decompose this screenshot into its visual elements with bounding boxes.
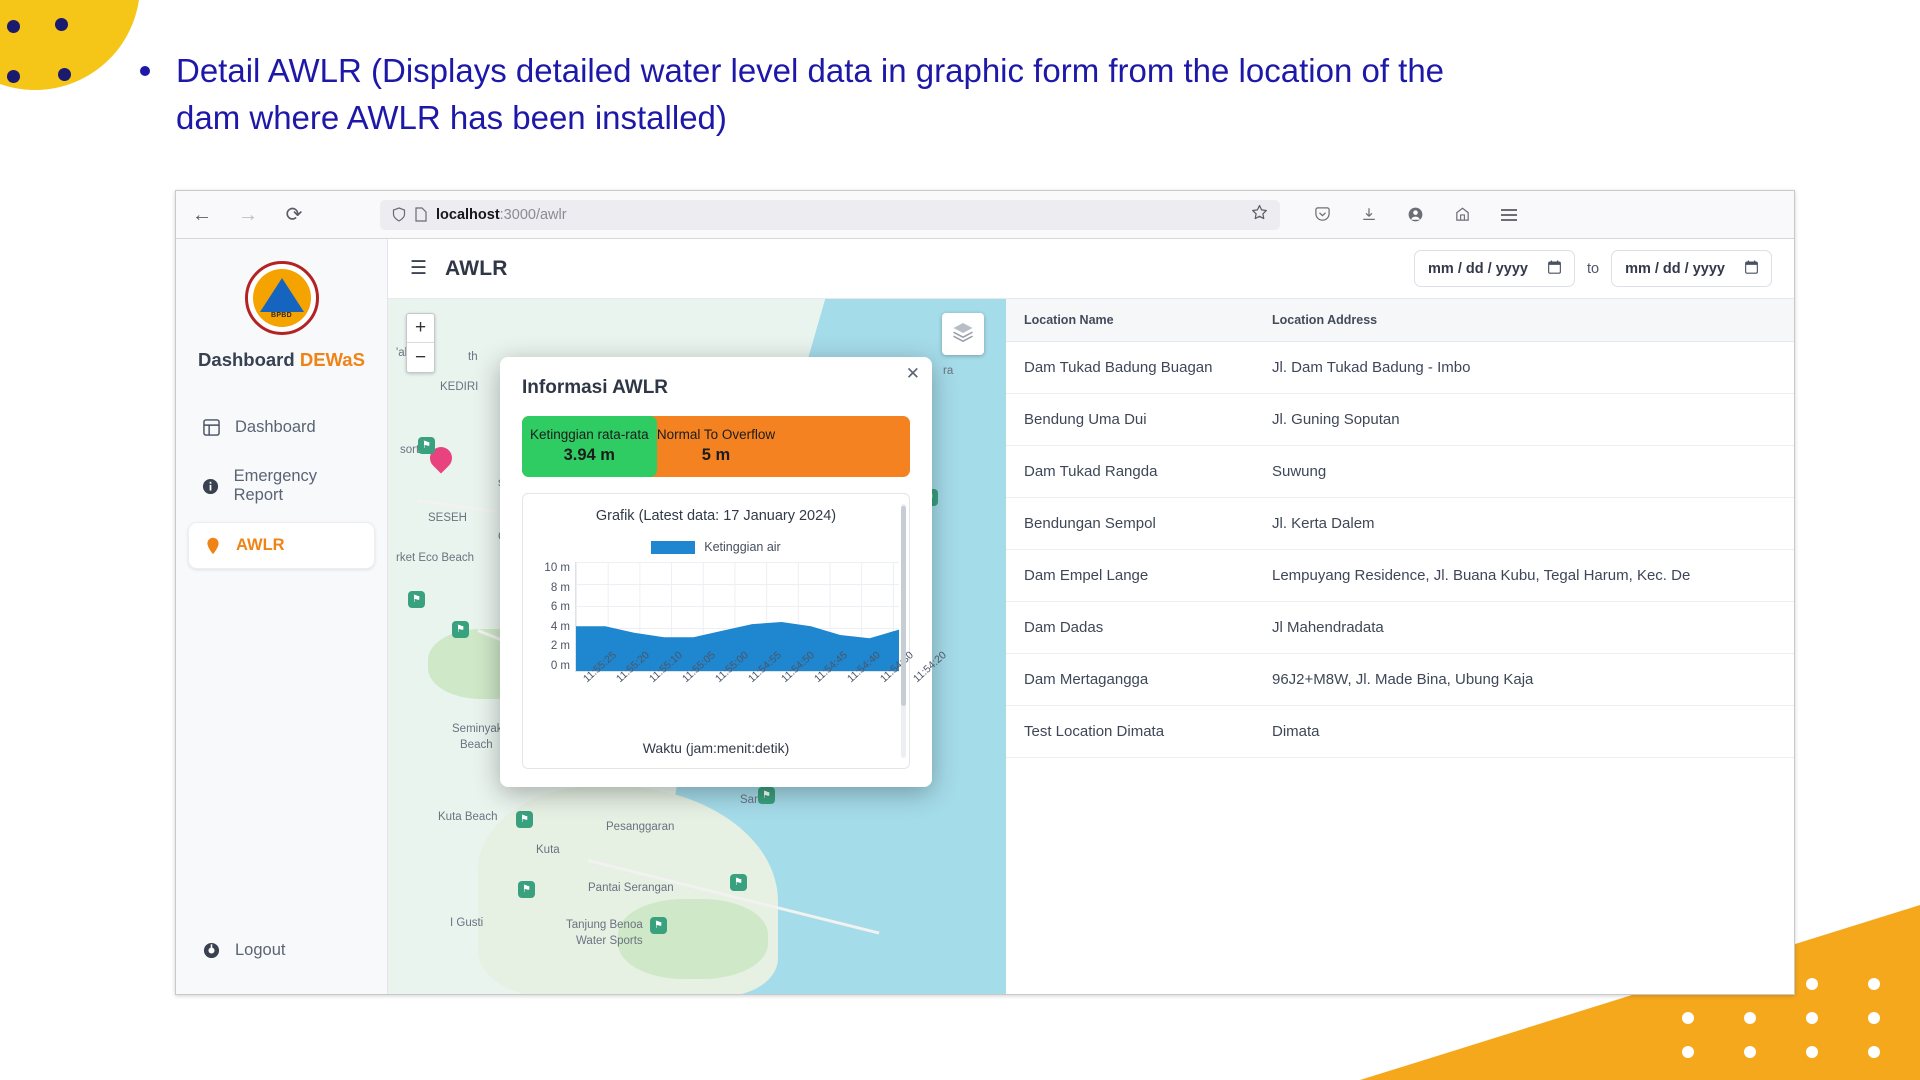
table-cell: Jl Mahendradata	[1254, 602, 1794, 654]
awlr-info-popup: ✕ Informasi AWLR Ketinggian rata-rata 3.…	[500, 357, 932, 787]
table-row[interactable]: Dam Tukad Badung BuaganJl. Dam Tukad Bad…	[1006, 342, 1794, 394]
map-canvas[interactable]: + − ⚑ ⚑ ⚑ ⚑ ⚑ ⚑ ⚑	[388, 299, 1006, 995]
table-cell: Jl. Dam Tukad Badung - Imbo	[1254, 342, 1794, 394]
table-cell: Dimata	[1254, 706, 1794, 758]
table-cell: Bendungan Sempol	[1006, 498, 1254, 550]
shield-icon	[392, 207, 406, 222]
legend-label: Ketinggian air	[704, 540, 780, 554]
locations-table: Location NameLocation Address Dam Tukad …	[1006, 299, 1794, 758]
date-to-value: mm / dd / yyyy	[1625, 261, 1725, 277]
locations-table-pane: Location NameLocation Address Dam Tukad …	[1006, 299, 1794, 995]
map-poi[interactable]: ⚑	[518, 881, 535, 898]
table-row[interactable]: Dam Mertagangga96J2+M8W, Jl. Made Bina, …	[1006, 654, 1794, 706]
map-pin-icon	[203, 537, 222, 555]
chart-y-tick: 2 m	[551, 640, 570, 652]
chart-y-tick: 8 m	[551, 582, 570, 594]
menu-icon[interactable]	[1501, 208, 1517, 222]
page-icon	[415, 207, 427, 222]
url-path: :3000/awlr	[500, 207, 567, 223]
sidebar-item-awlr[interactable]: AWLR	[188, 522, 375, 569]
map-zoom-controls: + −	[406, 313, 435, 373]
map-poi[interactable]: ⚑	[408, 591, 425, 608]
sidebar-nav: Dashboard Emergency Report AWLR	[176, 405, 387, 573]
table-cell: Lempuyang Residence, Jl. Buana Kubu, Teg…	[1254, 550, 1794, 602]
content-area: + − ⚑ ⚑ ⚑ ⚑ ⚑ ⚑ ⚑	[388, 299, 1794, 995]
sidebar: BPBD Dashboard DEWaS Dashboard	[176, 239, 388, 995]
table-row[interactable]: Dam DadasJl Mahendradata	[1006, 602, 1794, 654]
brand-block: BPBD Dashboard DEWaS	[176, 239, 387, 371]
url-bar[interactable]: localhost:3000/awlr	[380, 200, 1280, 230]
url-host: localhost	[436, 207, 500, 223]
table-row[interactable]: Test Location DimataDimata	[1006, 706, 1794, 758]
date-range-separator: to	[1587, 261, 1599, 277]
map-label: Kuta Beach	[438, 811, 497, 823]
stat-label: Ketinggian rata-rata	[530, 427, 649, 442]
sidebar-item-emergency-report[interactable]: Emergency Report	[188, 454, 375, 518]
brand-title-primary: Dashboard	[198, 349, 295, 370]
chart-x-axis: 11:55:2511:55:2011:55:1011:55:0511:55:00…	[575, 672, 899, 734]
table-row[interactable]: Dam Empel LangeLempuyang Residence, Jl. …	[1006, 550, 1794, 602]
app-window: BPBD Dashboard DEWaS Dashboard	[176, 239, 1794, 995]
logout-label: Logout	[235, 941, 285, 960]
arrow-left-icon[interactable]: ←	[190, 203, 214, 227]
sidebar-item-label: Emergency Report	[234, 467, 361, 505]
url-text: localhost:3000/awlr	[436, 207, 567, 223]
browser-actions	[1314, 206, 1523, 223]
main-area: ☰ AWLR mm / dd / yyyy to mm / dd / yyyy	[388, 239, 1794, 995]
map-layers-button[interactable]	[942, 313, 984, 355]
map-label: Pantai Serangan	[588, 882, 674, 894]
table-cell: Jl. Guning Soputan	[1254, 394, 1794, 446]
map-label: Tanjung Benoa	[566, 919, 643, 931]
chart-title: Grafik (Latest data: 17 January 2024)	[533, 508, 899, 524]
map-label: sort	[400, 444, 419, 456]
sidebar-item-label: AWLR	[236, 536, 285, 555]
brand-title-accent: DEWaS	[300, 349, 365, 370]
map-poi[interactable]: ⚑	[418, 437, 435, 454]
map-label: rket Eco Beach	[396, 552, 474, 564]
download-icon[interactable]	[1361, 206, 1377, 223]
map-poi[interactable]: ⚑	[650, 917, 667, 934]
table-cell: Dam Tukad Badung Buagan	[1006, 342, 1254, 394]
map-label: KEDIRI	[440, 381, 478, 393]
map-label: Beach	[460, 739, 493, 751]
date-to-input[interactable]: mm / dd / yyyy	[1611, 250, 1772, 287]
map-label: Pesanggaran	[606, 821, 674, 833]
table-cell: Bendung Uma Dui	[1006, 394, 1254, 446]
table-cell: Dam Dadas	[1006, 602, 1254, 654]
date-range-picker: mm / dd / yyyy to mm / dd / yyyy	[1414, 250, 1772, 287]
map-label: Seminyak	[452, 723, 503, 735]
calendar-icon[interactable]	[1548, 260, 1561, 277]
brand-title: Dashboard DEWaS	[176, 349, 387, 371]
logout-button[interactable]: Logout	[188, 929, 375, 972]
stat-cards: Ketinggian rata-rata 3.94 m Normal To Ov…	[522, 416, 910, 477]
chart-y-tick: 4 m	[551, 621, 570, 633]
chart-y-tick: 0 m	[551, 660, 570, 672]
map-poi[interactable]: ⚑	[452, 621, 469, 638]
sidebar-item-label: Dashboard	[235, 418, 316, 437]
account-icon[interactable]	[1407, 206, 1424, 223]
map-poi[interactable]: ⚑	[730, 874, 747, 891]
date-from-input[interactable]: mm / dd / yyyy	[1414, 250, 1575, 287]
legend-swatch	[651, 541, 695, 554]
pocket-icon[interactable]	[1314, 206, 1331, 223]
arrow-right-icon[interactable]: →	[236, 203, 260, 227]
zoom-in-button[interactable]: +	[407, 314, 434, 343]
chart-scrollbar-thumb[interactable]	[901, 506, 906, 706]
reload-icon[interactable]: ⟳	[282, 203, 306, 227]
bpbd-logo: BPBD	[245, 261, 319, 335]
bullet-marker	[140, 66, 150, 76]
map-label: Water Sports	[576, 935, 643, 947]
info-icon	[202, 478, 220, 495]
stat-value: 3.94 m	[530, 446, 649, 465]
layers-icon	[951, 320, 975, 349]
table-row[interactable]: Bendungan SempolJl. Kerta Dalem	[1006, 498, 1794, 550]
map-label: th	[468, 351, 478, 363]
map-label: ra	[943, 365, 953, 377]
calendar-icon[interactable]	[1745, 260, 1758, 277]
power-icon	[202, 942, 221, 959]
popup-title: Informasi AWLR	[522, 377, 910, 399]
date-from-value: mm / dd / yyyy	[1428, 261, 1528, 277]
close-icon[interactable]: ✕	[906, 365, 920, 382]
sidebar-item-dashboard[interactable]: Dashboard	[188, 405, 375, 450]
slide-bullet: Detail AWLR (Displays detailed water lev…	[140, 48, 1480, 142]
table-cell: Jl. Kerta Dalem	[1254, 498, 1794, 550]
table-column-header: Location Name	[1006, 299, 1254, 342]
chart-y-tick: 6 m	[551, 601, 570, 613]
table-cell: Dam Mertagangga	[1006, 654, 1254, 706]
zoom-out-button[interactable]: −	[407, 343, 434, 372]
extensions-icon[interactable]	[1454, 206, 1471, 223]
chart-x-title: Waktu (jam:menit:detik)	[533, 740, 899, 756]
slide-bullet-text: Detail AWLR (Displays detailed water lev…	[140, 48, 1480, 142]
map-poi[interactable]: ⚑	[758, 787, 775, 804]
map-poi[interactable]: ⚑	[516, 811, 533, 828]
table-cell: Dam Tukad Rangda	[1006, 446, 1254, 498]
table-row[interactable]: Bendung Uma DuiJl. Guning Soputan	[1006, 394, 1794, 446]
chart-y-tick: 10 m	[544, 562, 570, 574]
table-header-row: Location NameLocation Address	[1006, 299, 1794, 342]
table-row[interactable]: Dam Tukad RangdaSuwung	[1006, 446, 1794, 498]
table-cell: 96J2+M8W, Jl. Made Bina, Ubung Kaja	[1254, 654, 1794, 706]
browser-screenshot: ← → ⟳ localhost:3000/awlr	[175, 190, 1795, 995]
table-cell: Test Location Dimata	[1006, 706, 1254, 758]
top-bar: ☰ AWLR mm / dd / yyyy to mm / dd / yyyy	[388, 239, 1794, 299]
star-icon[interactable]	[1251, 204, 1268, 226]
map-label: I Gusti	[450, 917, 483, 929]
hamburger-icon[interactable]: ☰	[410, 257, 427, 280]
logo-badge-text: BPBD	[248, 312, 316, 319]
water-level-chart: Grafik (Latest data: 17 January 2024) Ke…	[522, 493, 910, 769]
table-cell: Dam Empel Lange	[1006, 550, 1254, 602]
map-label: SESEH	[428, 512, 467, 524]
browser-toolbar: ← → ⟳ localhost:3000/awlr	[176, 191, 1794, 239]
grid-icon	[202, 419, 221, 436]
map-label: Kuta	[536, 844, 560, 856]
chart-legend: Ketinggian air	[533, 540, 899, 554]
chart-y-axis: 10 m8 m6 m4 m2 m0 m	[533, 562, 575, 672]
stat-card-average-height: Ketinggian rata-rata 3.94 m	[522, 416, 657, 477]
page-title: AWLR	[445, 257, 508, 281]
table-column-header: Location Address	[1254, 299, 1794, 342]
table-cell: Suwung	[1254, 446, 1794, 498]
